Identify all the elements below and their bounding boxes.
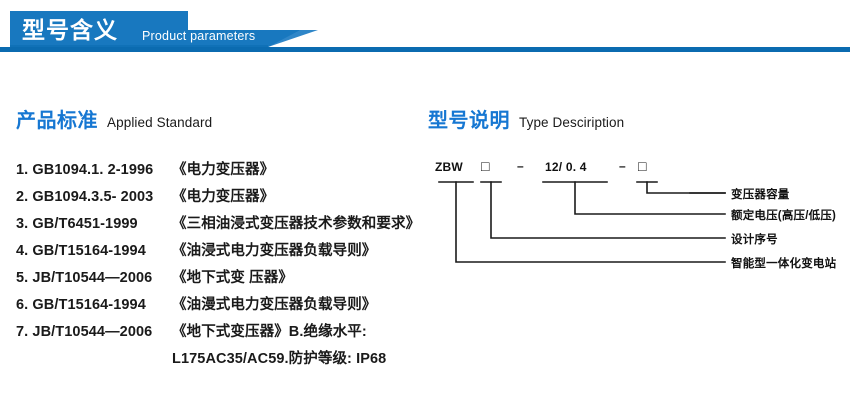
list-item-continuation: L175AC35/AC59.防护等级: IP68	[16, 347, 436, 374]
standard-code: 7. JB/T10544—2006	[16, 324, 172, 340]
standard-name: L175AC35/AC59.防护等级: IP68	[172, 347, 386, 368]
type-description-heading: 型号说明Type Desciription	[428, 104, 624, 133]
applied-standard-heading-cn: 产品标准	[16, 110, 98, 132]
standard-name: 《油漫式电力变压器负载导则》	[172, 293, 376, 314]
list-item: 3. GB/T6451-1999 《三相油浸式变压器技术参数和要求》	[16, 212, 436, 239]
applied-standard-heading-en: Applied Standard	[107, 115, 212, 130]
banner-subtitle: Product parameters	[142, 29, 255, 43]
standard-code: 5. JB/T10544—2006	[16, 270, 172, 286]
standard-code: 4. GB/T15164-1994	[16, 243, 172, 259]
standard-name: 《地下式变 压器》	[172, 266, 293, 287]
standard-code: 3. GB/T6451-1999	[16, 216, 172, 232]
list-item: 4. GB/T15164-1994 《油浸式电力变压器负载导则》	[16, 239, 436, 266]
page-banner: 型号含义 Product parameters	[0, 0, 850, 62]
standard-name: 《地下式变压器》B.绝缘水平:	[172, 320, 367, 341]
standard-code: 6. GB/T15164-1994	[16, 297, 172, 313]
list-item: 1. GB1094.1. 2-1996 《电力变压器》	[16, 158, 436, 185]
standard-code: 2. GB1094.3.5- 2003	[16, 189, 172, 205]
model-voltage: 12/ 0. 4	[545, 160, 587, 174]
callout-label-capacity: 变压器容量	[731, 186, 790, 202]
callout-label-station-type: 智能型一体化变电站	[731, 255, 836, 271]
model-dash-2: –	[619, 159, 626, 173]
model-dash-1: –	[517, 159, 524, 173]
list-item: 7. JB/T10544—2006 《地下式变压器》B.绝缘水平:	[16, 320, 436, 347]
callout-label-rated-voltage: 额定电压(高压/低压)	[731, 207, 836, 223]
banner-title: 型号含义	[22, 16, 118, 44]
type-description-heading-cn: 型号说明	[428, 110, 510, 132]
applied-standard-list: 1. GB1094.1. 2-1996 《电力变压器》 2. GB1094.3.…	[16, 158, 436, 374]
callout-label-design-serial: 设计序号	[731, 231, 778, 247]
model-box-2: □	[638, 158, 647, 174]
applied-standard-heading: 产品标准Applied Standard	[16, 104, 212, 133]
model-prefix: ZBW	[435, 160, 463, 174]
type-description-heading-en: Type Desciription	[519, 115, 624, 130]
model-box-1: □	[481, 158, 490, 174]
model-code-diagram: ZBW □ – 12/ 0. 4 – □ 变压器容量 额定电压(高压/低压) 设…	[425, 150, 850, 280]
standard-name: 《油浸式电力变压器负载导则》	[172, 239, 376, 260]
list-item: 2. GB1094.3.5- 2003 《电力变压器》	[16, 185, 436, 212]
standard-name: 《电力变压器》	[172, 158, 274, 179]
standard-name: 《三相油浸式变压器技术参数和要求》	[172, 212, 420, 233]
banner-shape	[0, 0, 850, 62]
list-item: 6. GB/T15164-1994 《油漫式电力变压器负载导则》	[16, 293, 436, 320]
standard-name: 《电力变压器》	[172, 185, 274, 206]
list-item: 5. JB/T10544—2006 《地下式变 压器》	[16, 266, 436, 293]
standard-code: 1. GB1094.1. 2-1996	[16, 162, 172, 178]
